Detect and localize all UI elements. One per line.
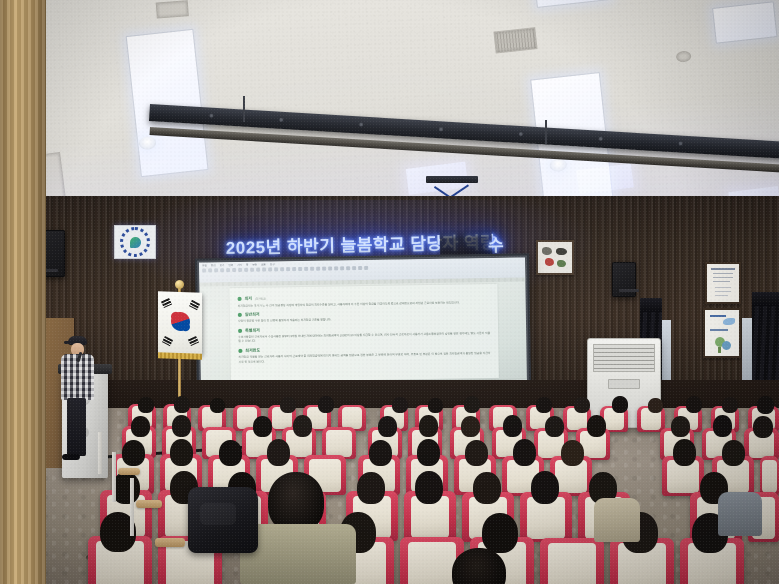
seat[interactable]	[540, 538, 604, 584]
attendee-head	[713, 415, 732, 437]
section-title: 최저한도	[245, 347, 260, 353]
attendee-head	[122, 440, 145, 466]
attendee-head	[318, 396, 334, 413]
attendee-torso	[594, 498, 640, 542]
ceiling-vent	[493, 27, 537, 53]
toolbar-icon[interactable]	[298, 267, 302, 271]
attendee-head	[587, 415, 606, 437]
attendee-head	[465, 440, 488, 466]
institution-emblem	[114, 225, 156, 259]
bullet-icon	[238, 297, 242, 301]
attendee-head	[267, 439, 290, 466]
framed-notice-upper	[705, 262, 741, 304]
attendee-head	[464, 396, 480, 413]
toolbar-icon[interactable]	[232, 268, 236, 272]
attendee-head	[722, 397, 738, 413]
attendee-head	[369, 440, 392, 466]
attendee-head	[392, 397, 408, 413]
toolbar-icon[interactable]	[202, 268, 206, 272]
emblem-core-icon	[130, 237, 141, 248]
attendee-head	[219, 440, 242, 466]
backpack-on-floor	[188, 487, 258, 553]
toolbar-icon[interactable]	[334, 266, 338, 270]
attendee-head	[112, 472, 140, 504]
bullet-icon	[238, 349, 242, 353]
toolbar-icon[interactable]	[268, 267, 272, 271]
projection-screen: 파일 편집 보기 입력 서식 쪽 보안 검토 도구	[199, 257, 527, 390]
ceiling-vent	[156, 0, 189, 18]
attendee-head	[757, 396, 774, 414]
section-title: 특별최저	[245, 327, 260, 333]
toolbar-icon[interactable]	[310, 267, 314, 271]
toolbar-icon[interactable]	[280, 267, 284, 271]
bullet-icon	[238, 329, 242, 333]
section-body: 수습사용중인 근로자로서 수습사용한 날부터 3개월 이내인 자에 대하여는 최…	[238, 331, 490, 344]
auditorium-seating	[0, 392, 779, 584]
menu-item[interactable]: 보안	[252, 263, 257, 267]
menu-item[interactable]: 파일	[202, 263, 207, 267]
attendee-head	[253, 416, 272, 437]
toolbar-icon[interactable]	[304, 267, 308, 271]
attendee-head	[612, 396, 628, 413]
framed-poster-lower	[703, 308, 741, 358]
toolbar-icon[interactable]	[226, 268, 230, 272]
emblem-ring-icon	[120, 227, 150, 257]
toolbar-icon[interactable]	[316, 267, 320, 271]
attendee-head	[417, 439, 440, 466]
attendee-head	[378, 416, 397, 437]
auditorium-photo: 2025년 하반기 늘봄학교 담당자 역량 수	[0, 0, 779, 584]
toolbar-icon[interactable]	[352, 266, 356, 270]
attendee-head	[293, 415, 312, 437]
flag-pole-finial	[175, 280, 184, 289]
toolbar-icon[interactable]	[214, 268, 218, 272]
attendee-head	[673, 439, 696, 466]
attendee-head	[753, 416, 773, 438]
section-title: 최저	[245, 296, 252, 302]
toolbar-icon[interactable]	[256, 268, 260, 272]
attendee-head	[131, 416, 150, 437]
menu-item[interactable]: 입력	[228, 263, 233, 267]
attendee-head	[531, 471, 559, 504]
ac-control-panel[interactable]	[608, 379, 640, 389]
menu-item[interactable]: 쪽	[246, 263, 248, 267]
curtain-valance	[640, 298, 662, 312]
section-note: (최저임금)	[255, 297, 266, 301]
attendee-head	[648, 398, 663, 413]
attendee-head	[536, 397, 552, 413]
attendee-head	[280, 397, 296, 413]
truss-hanger-wire	[545, 120, 547, 144]
framed-picture-front-right	[536, 240, 574, 275]
menu-item[interactable]: 도구	[270, 262, 275, 266]
menu-item[interactable]: 서식	[237, 263, 242, 267]
lift-mount-plate	[426, 176, 478, 183]
seat-leg	[112, 452, 116, 502]
attendee-head	[574, 397, 590, 413]
toolbar-icon[interactable]	[358, 266, 362, 270]
toolbar-icon[interactable]	[262, 268, 266, 272]
bullet-icon	[238, 313, 242, 317]
attendee-head	[210, 398, 225, 413]
section-body: 최저임금 적용을 받는 근로자와 사용자 사이의 근로계약 중 최저임금액에 미…	[238, 351, 490, 364]
attendee-head	[172, 415, 191, 437]
projection-screen-frame: 파일 편집 보기 입력 서식 쪽 보안 검토 도구	[195, 253, 531, 394]
document-page: 최저 (최저임금) 최저임금제는 국가가 노·사 간의 임금결정 과정에 개입하…	[229, 284, 498, 382]
attendee-torso	[718, 492, 762, 536]
attendee-head-foreground	[268, 472, 324, 532]
seat-armrest	[136, 500, 162, 508]
south-korean-flag	[158, 291, 202, 355]
attendee-head	[428, 398, 443, 413]
attendee-head	[473, 472, 501, 504]
attendee-head	[722, 440, 745, 466]
attendee-head	[513, 439, 536, 466]
attendee-head	[419, 415, 438, 437]
attendee-head	[686, 396, 702, 413]
trigram-gam-icon	[189, 300, 200, 310]
attendee-head	[174, 396, 190, 413]
attendee-head	[170, 439, 193, 466]
menu-item[interactable]: 편집	[211, 263, 216, 267]
attendee-head	[545, 416, 564, 437]
attendee-head	[503, 415, 522, 437]
ceiling-panel-light	[712, 1, 778, 43]
trigram-geon-icon	[161, 298, 172, 308]
truss-hanger-wire	[243, 96, 245, 122]
menu-item[interactable]: 검토	[261, 263, 266, 267]
attendee-head	[671, 416, 690, 437]
attendee-head	[561, 440, 584, 466]
toolbar-icon[interactable]	[292, 267, 296, 271]
trigram-gon-icon	[162, 336, 173, 346]
attendee-head	[461, 416, 480, 437]
toolbar-icon[interactable]	[322, 267, 326, 271]
attendee-head	[415, 471, 443, 504]
right-wall-speaker	[612, 262, 636, 297]
toolbar-icon[interactable]	[340, 266, 344, 270]
toolbar-icon[interactable]	[244, 268, 248, 272]
seat-armrest	[118, 468, 140, 475]
curtain-valance	[752, 292, 779, 306]
ac-grille	[593, 344, 655, 372]
section-title: 일반최저	[245, 311, 260, 317]
menu-item[interactable]: 보기	[220, 263, 225, 267]
attendee-head	[138, 397, 154, 413]
toolbar-icon[interactable]	[274, 267, 278, 271]
toolbar-icon[interactable]	[328, 266, 332, 270]
attendee-head	[482, 513, 518, 553]
left-wood-column	[0, 0, 46, 584]
toolbar-icon[interactable]	[286, 267, 290, 271]
seat-leg	[98, 432, 102, 474]
seat-leg	[130, 478, 134, 536]
toolbar-icon[interactable]	[208, 268, 212, 272]
attendee-head	[357, 472, 385, 504]
seat[interactable]	[760, 456, 779, 496]
toolbar-icon[interactable]	[346, 266, 350, 270]
trigram-ri-icon	[188, 336, 199, 346]
seat-armrest	[155, 538, 185, 547]
taeguk-symbol-icon	[171, 312, 190, 332]
led-banner-tail-text: 수	[488, 231, 505, 256]
toolbar-icon[interactable]	[220, 268, 224, 272]
toolbar-icon[interactable]	[238, 268, 242, 272]
toolbar-icon[interactable]	[250, 268, 254, 272]
toolbar-icon[interactable]	[364, 266, 368, 270]
